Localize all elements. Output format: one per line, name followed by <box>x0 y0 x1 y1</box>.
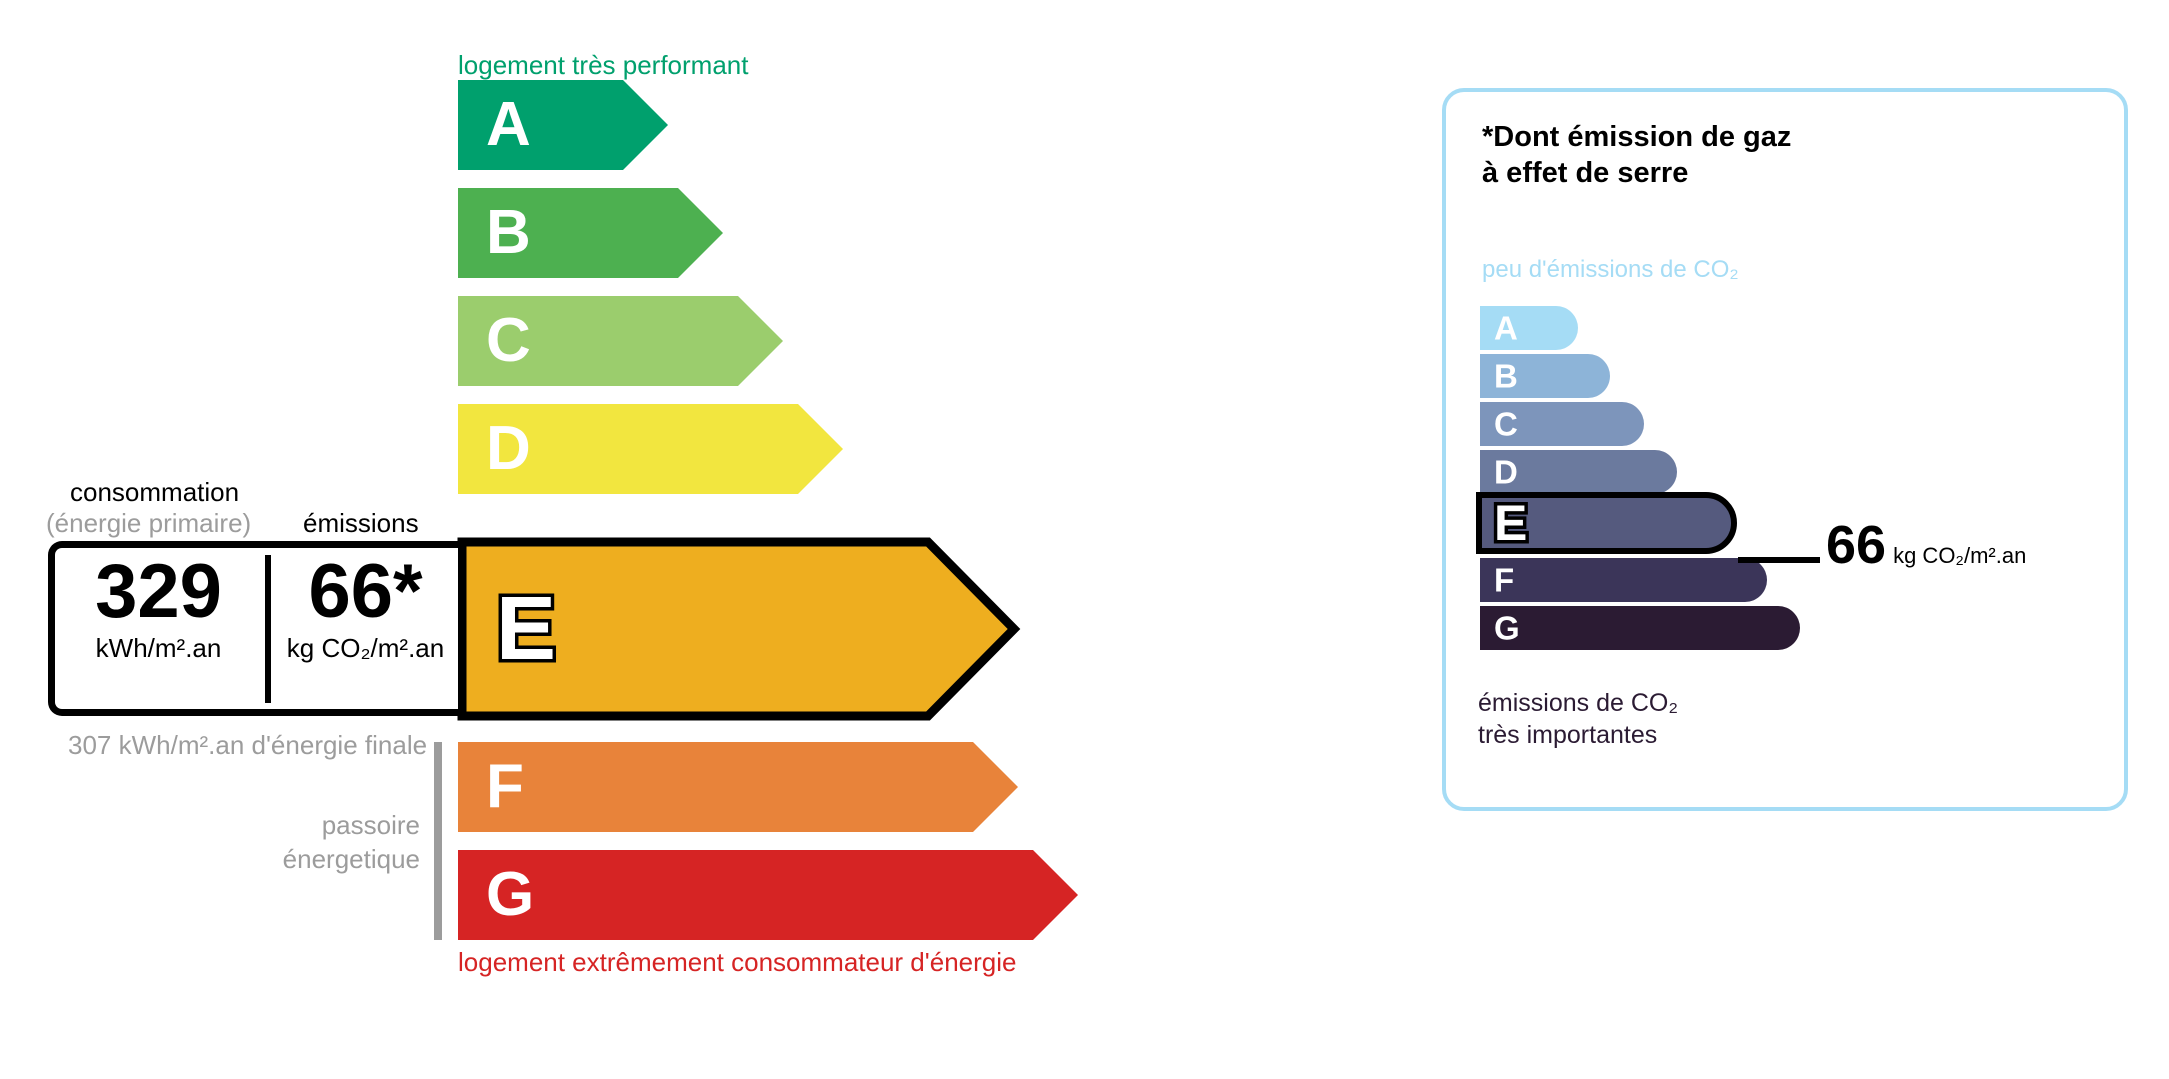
emissions-value: 66* <box>278 556 453 628</box>
energy-arrow-g <box>458 850 1078 940</box>
co2-row-g: G <box>1480 606 1800 650</box>
consumption-unit: kWh/m².an <box>56 634 261 663</box>
energy-performance-scale: logement très performant A B <box>0 0 1420 1079</box>
co2-row-c: C <box>1480 402 1644 446</box>
co2-row-d: D <box>1480 450 1677 494</box>
energy-grade-a: A <box>486 94 531 156</box>
co2-callout-number: 66 <box>1826 515 1886 575</box>
co2-bar-f <box>1480 558 1767 602</box>
consumption-header-sublabel: (énergie primaire) <box>46 508 251 539</box>
emissions-value-cell: 66* kg CO₂/m².an <box>278 556 453 663</box>
energy-grade-g: G <box>486 864 534 926</box>
co2-callout-unit: kg CO₂/m².an <box>1893 543 2026 568</box>
consumption-value-cell: 329 kWh/m².an <box>56 556 261 663</box>
values-box-divider <box>265 555 271 703</box>
energy-row-b: B <box>458 188 723 278</box>
passoire-energetique-label: passoire énergetique <box>190 808 420 877</box>
final-energy-note: 307 kWh/m².an d'énergie finale <box>68 728 427 762</box>
energy-grade-c: C <box>486 310 531 372</box>
energy-bottom-caption: logement extrêmement consommateur d'éner… <box>458 947 1016 978</box>
co2-bar-g <box>1480 606 1800 650</box>
energy-grade-b: B <box>486 202 531 264</box>
co2-grade-e: E <box>1494 498 1527 548</box>
energy-row-e-selected: E <box>458 538 1018 720</box>
energy-grade-f: F <box>486 756 524 818</box>
co2-bottom-caption: émissions de CO₂ très importantes <box>1478 688 1678 751</box>
co2-grade-a: A <box>1494 312 1518 345</box>
energy-grade-e: E <box>496 584 556 674</box>
emissions-unit: kg CO₂/m².an <box>278 634 453 663</box>
co2-emissions-panel: *Dont émission de gaz à effet de serre p… <box>1442 88 2128 811</box>
energy-row-d: D <box>458 404 843 494</box>
co2-grade-f: F <box>1494 564 1514 597</box>
emissions-header-label: émissions <box>303 508 419 539</box>
energy-arrow-f <box>458 742 1018 832</box>
energy-row-a: A <box>458 80 668 170</box>
co2-grade-c: C <box>1494 408 1518 441</box>
passoire-energetique-bracket <box>434 742 442 940</box>
energy-row-g: G <box>458 850 1078 940</box>
co2-row-a: A <box>1480 306 1578 350</box>
co2-grade-b: B <box>1494 360 1518 393</box>
consumption-header-label: consommation <box>70 477 239 508</box>
co2-callout-value: 66kg CO₂/m².an <box>1826 518 2026 572</box>
energy-bar-rows: A B C <box>0 0 1420 1079</box>
co2-row-f: F <box>1480 558 1767 602</box>
energy-row-c: C <box>458 296 783 386</box>
energy-grade-d: D <box>486 418 531 480</box>
co2-grade-g: G <box>1494 612 1520 645</box>
co2-callout-leader-line <box>1738 557 1820 563</box>
energy-row-f: F <box>458 742 1018 832</box>
co2-row-b: B <box>1480 354 1610 398</box>
consumption-value: 329 <box>56 556 261 628</box>
dpe-energy-label: logement très performant A B <box>0 0 2169 1079</box>
co2-grade-d: D <box>1494 456 1518 489</box>
co2-row-e-selected: E <box>1476 492 1737 554</box>
